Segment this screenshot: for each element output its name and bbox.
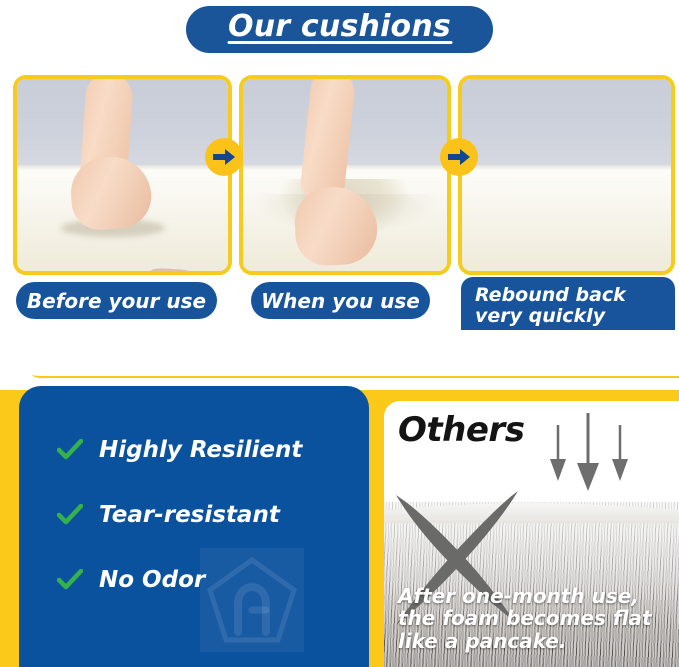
arrow-right-icon (205, 138, 243, 176)
demo-panel-after (458, 75, 675, 275)
caption-during-label: When you use (261, 289, 420, 313)
features-card: Highly Resilient Tear-resistant No Odor (19, 386, 369, 667)
caption-before: Before your use (16, 282, 217, 319)
arrow-down-icon (546, 411, 666, 491)
check-icon (57, 569, 83, 591)
feature-label: Tear-resistant (99, 502, 280, 528)
photo-before (17, 79, 228, 271)
demo-panel-during (239, 75, 451, 275)
infographic-page: Our cushions (0, 0, 679, 667)
feature-item-no-odor: No Odor (57, 567, 205, 593)
page-title-pill: Our cushions (186, 6, 493, 53)
title-underline (227, 41, 452, 44)
photo-during (243, 79, 447, 271)
check-icon (57, 504, 83, 526)
arrow-right-icon (440, 138, 478, 176)
others-caption-line-1: After one-month use, (398, 585, 669, 608)
feature-item-highly-resilient: Highly Resilient (57, 437, 302, 463)
yellow-curve-notch (0, 330, 679, 390)
caption-during: When you use (251, 282, 430, 319)
photo-foam-block (462, 165, 671, 271)
others-caption: After one-month use, the foam becomes fl… (398, 585, 669, 653)
photo-foam-edge (462, 165, 671, 170)
others-caption-line-3: like a pancake. (398, 630, 669, 653)
others-card: Others After one-month use, the foam bec… (384, 401, 679, 667)
photo-after (462, 79, 671, 271)
check-icon (57, 439, 83, 461)
others-title: Others (398, 410, 524, 450)
caption-after-line-2: very quickly (475, 306, 605, 328)
feature-item-tear-resistant: Tear-resistant (57, 502, 280, 528)
caption-after-line-1: Rebound back (475, 285, 626, 307)
feature-label: No Odor (99, 567, 205, 593)
demo-panel-before (13, 75, 232, 275)
others-caption-line-2: the foam becomes flat (398, 607, 669, 630)
photo-background-wall (462, 79, 671, 169)
feature-label: Highly Resilient (99, 437, 302, 463)
caption-before-label: Before your use (27, 289, 206, 313)
